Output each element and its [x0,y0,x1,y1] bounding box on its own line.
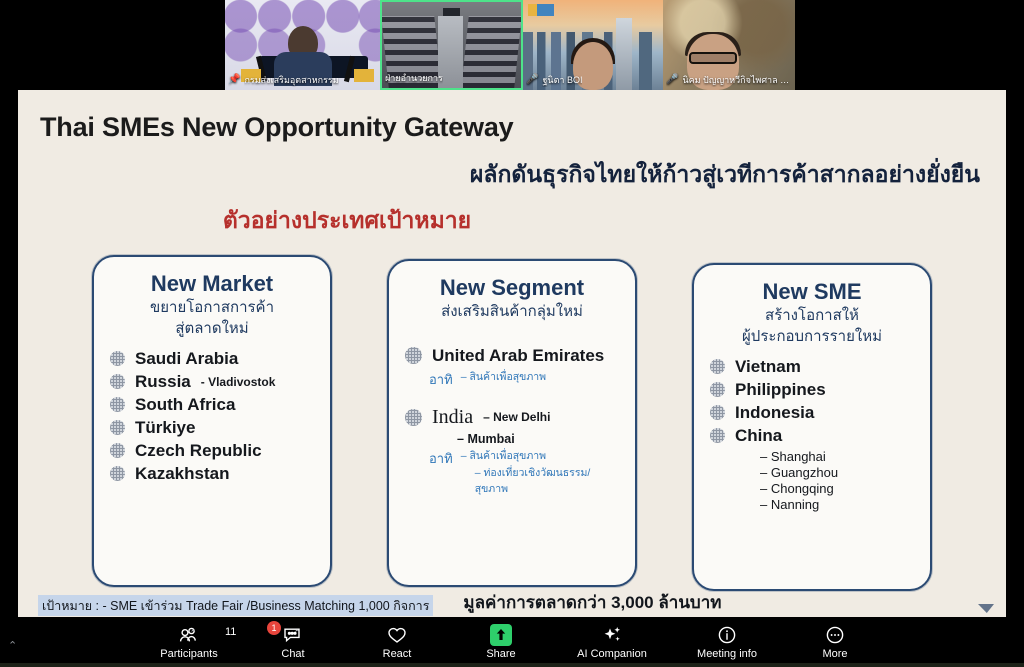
city-name: Guangzhou [760,465,918,481]
examples-label: อาทิ [429,369,453,390]
country-name: Vietnam [735,357,801,377]
segment-list: United Arab Emirates อาทิ สินค้าเพื่อสุข… [401,346,623,498]
toolbar-collapse-chevron-icon[interactable]: ⌃ [8,639,17,652]
example-item: สินค้าเพื่อสุขภาพ [461,448,623,465]
list-item: Kazakhstan [110,464,318,484]
list-item: Czech Republic [110,441,318,461]
globe-icon [710,428,725,443]
card-subtitle-line1: ส่งเสริมสินค้ากลุ่มใหม่ [401,303,623,322]
card-new-market: New Market ขยายโอกาสการค้า สู่ตลาดใหม่ S… [92,255,332,587]
card-subtitle-line1: สร้างโอกาสให้ [706,307,918,326]
slide-subtitle-thai: ผลักดันธุรกิจไทยให้ก้าวสู่เวทีการค้าสากล… [40,157,984,193]
card-new-sme: New SME สร้างโอกาสให้ ผู้ประกอบการรายใหม… [692,263,932,591]
participants-label: Participants [160,648,217,660]
chat-button[interactable]: 1 ⌃ Chat [254,624,332,660]
meeting-info-button[interactable]: Meeting info [684,624,770,660]
heart-icon [386,624,408,646]
footer-value-text: มูลค่าการตลาดกว่า 3,000 ล้านบาท [463,589,721,616]
globe-icon [110,420,125,435]
country-name: Saudi Arabia [135,349,238,369]
country-name: United Arab Emirates [432,346,604,366]
list-item: South Africa [110,395,318,415]
country-name: South Africa [135,395,235,415]
mic-off-icon: 🎤 [526,75,538,85]
country-name: Kazakhstan [135,464,229,484]
more-label: More [822,648,847,660]
slide-section-heading: ตัวอย่างประเทศเป้าหมาย [40,203,984,239]
card-subtitle-line2: สู่ตลาดใหม่ [106,320,318,339]
participant-name: ฝ่ายอำนวยการ [385,71,443,85]
sparkle-icon [601,624,623,646]
list-item: Saudi Arabia [110,349,318,369]
video-tile-active-speaker[interactable]: ฝ่ายอำนวยการ [380,0,523,90]
participant-name: นิคม ปัญญาหวีกิจไพศาล กร... [682,73,792,87]
shared-screen-slide: Thai SMEs New Opportunity Gateway ผลักดั… [18,90,1006,617]
participant-name-label: 🎤 ฐนิตา BOI [526,73,660,87]
examples-values: สินค้าเพื่อสุขภาพ ท่องเที่ยวเชิงวัฒนธรรม… [461,448,623,498]
city-list: Shanghai Guangzhou Chongqing Nanning [760,449,918,513]
examples-row: อาทิ สินค้าเพื่อสุขภาพ ท่องเที่ยวเชิงวัฒ… [429,448,623,498]
globe-icon [710,359,725,374]
video-tile[interactable]: 🎤 ฐนิตา BOI [523,0,663,90]
pin-icon: 📌 [228,75,240,85]
globe-icon [110,397,125,412]
chat-unread-badge: 1 [267,621,281,635]
participant-name: ฐนิตา BOI [542,73,582,87]
share-label: Share [486,648,515,660]
react-label: React [383,648,412,660]
list-item: Philippines [710,380,918,400]
globe-icon [405,347,422,364]
share-screen-icon [490,624,512,646]
country-name: Philippines [735,380,826,400]
list-item: Türkiye [110,418,318,438]
examples-row: อาทิ สินค้าเพื่อสุขภาพ [429,369,623,390]
list-item: India – New Delhi [405,406,623,429]
country-list: Vietnam Philippines Indonesia China [706,357,918,513]
city-name: – New Delhi [483,410,550,424]
globe-icon [110,374,125,389]
globe-icon [710,382,725,397]
list-item: China [710,426,918,446]
mic-off-icon: 🎤 [666,75,678,85]
ellipsis-icon [825,624,845,646]
video-tile[interactable]: 📌 กรมส่งเสริมอุตสาหกรรม [225,0,380,90]
card-heading: New SME [706,279,918,305]
globe-icon [405,409,422,426]
country-name: India [432,406,473,429]
ai-companion-button[interactable]: AI Companion [566,624,658,660]
info-icon [717,624,737,646]
participant-name-label: ฝ่ายอำนวยการ [385,71,518,85]
window-bottom-strip [0,663,1024,667]
examples-label: อาทิ [429,448,453,469]
card-heading: New Segment [401,275,623,301]
country-name: China [735,426,782,446]
cards-row: New Market ขยายโอกาสการค้า สู่ตลาดใหม่ S… [40,255,984,591]
chat-label: Chat [281,648,304,660]
footer-target-text: เป้าหมาย : - SME เข้าร่วม Trade Fair /Bu… [38,595,433,616]
chevron-up-icon[interactable]: ⌃ [293,628,301,639]
city-name: Nanning [760,497,918,513]
examples-values: สินค้าเพื่อสุขภาพ [461,369,546,386]
globe-icon [710,405,725,420]
ai-companion-label: AI Companion [577,648,647,660]
video-tile[interactable]: 🎤 นิคม ปัญญาหวีกิจไพศาล กร... [663,0,795,90]
example-item: สินค้าเพื่อสุขภาพ [461,369,546,386]
country-name: Indonesia [735,403,814,423]
country-list: Saudi Arabia Russia - Vladivostok South … [106,349,318,484]
city-name: – Mumbai [457,432,623,446]
country-name: Türkiye [135,418,195,438]
example-item: ท่องเที่ยวเชิงวัฒนธรรม/สุขภาพ [475,465,623,499]
list-item: Vietnam [710,357,918,377]
globe-icon [110,351,125,366]
city-name: Chongqing [760,481,918,497]
globe-icon [110,466,125,481]
participants-count: 11 [225,626,236,638]
participants-button[interactable]: 11 ⌃ Participants [150,624,228,660]
react-button[interactable]: React [358,624,436,660]
slide-title-english: Thai SMEs New Opportunity Gateway [40,112,984,143]
zoom-meeting-toolbar: ⌃ 11 ⌃ Participants 1 ⌃ Chat [0,617,1024,667]
participants-icon: 11 ⌃ [179,624,199,646]
participant-name-label: 📌 กรมส่งเสริมอุตสาหกรรม [228,73,377,87]
participant-name: กรมส่งเสริมอุตสาหกรรม [244,73,338,87]
country-note: - Vladivostok [201,375,276,389]
card-subtitle-line1: ขยายโอกาสการค้า [106,299,318,318]
chat-icon: 1 ⌃ [283,624,303,646]
slide-footer: เป้าหมาย : - SME เข้าร่วม Trade Fair /Bu… [18,591,1006,617]
list-item: Indonesia [710,403,918,423]
more-button[interactable]: More [796,624,874,660]
country-name: Czech Republic [135,441,262,461]
list-item: United Arab Emirates [405,346,623,366]
video-filmstrip: 📌 กรมส่งเสริมอุตสาหกรรม ฝ่ายอำนวยการ 🎤 ฐ… [225,0,795,90]
chevron-up-icon[interactable]: ⌃ [189,628,197,639]
list-item: Russia - Vladivostok [110,372,318,392]
globe-icon [110,443,125,458]
meeting-info-label: Meeting info [697,648,757,660]
card-heading: New Market [106,271,318,297]
participant-name-label: 🎤 นิคม ปัญญาหวีกิจไพศาล กร... [666,73,792,87]
card-subtitle-line2: ผู้ประกอบการรายใหม่ [706,328,918,347]
card-new-segment: New Segment ส่งเสริมสินค้ากลุ่มใหม่ Unit… [387,259,637,587]
share-screen-button[interactable]: Share [462,624,540,660]
city-name: Shanghai [760,449,918,465]
country-name: Russia [135,372,191,392]
